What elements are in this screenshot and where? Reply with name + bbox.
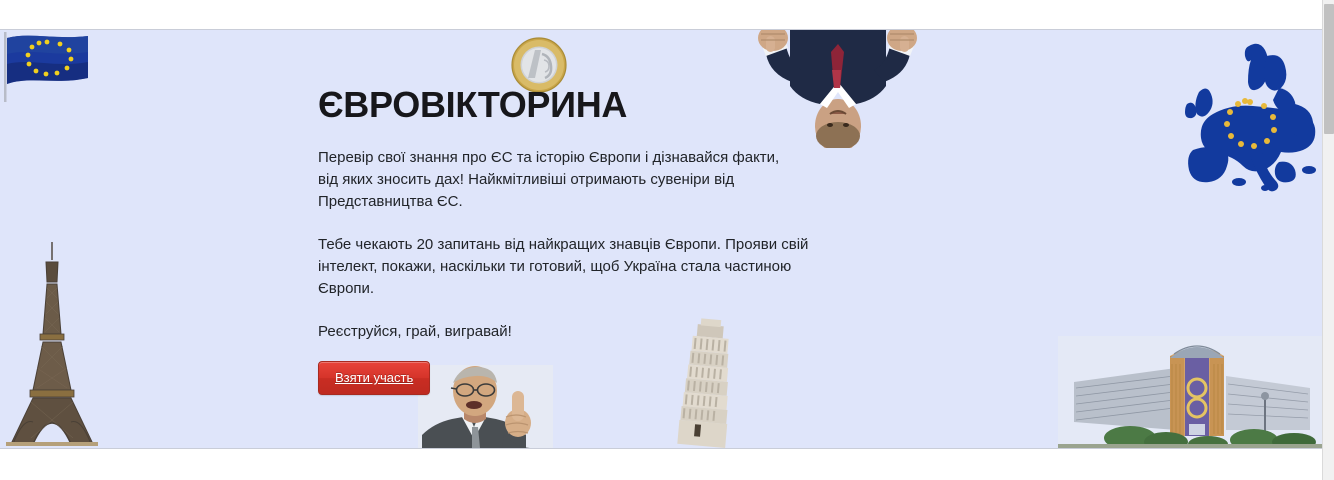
hero-banner: ЄВРОВІКТОРИНА Перевір свої знання про ЄС… xyxy=(0,30,1322,448)
page-title: ЄВРОВІКТОРИНА xyxy=(318,85,818,125)
page-bottom-whitespace xyxy=(0,449,1322,480)
eu-flag-image xyxy=(0,30,95,102)
vertical-scrollbar[interactable] xyxy=(1322,0,1334,480)
take-part-button[interactable]: Взяти участь xyxy=(318,361,430,395)
scrollbar-thumb[interactable] xyxy=(1324,4,1334,134)
hero-paragraph-3: Реєструйся, грай, вигравай! xyxy=(318,321,818,343)
hero-paragraph-2: Тебе чекають 20 запитань від найкращих з… xyxy=(318,234,810,300)
eiffel-tower-image xyxy=(0,238,105,448)
page-top-whitespace xyxy=(0,0,1322,29)
hero-paragraph-1: Перевір свої знання про ЄС та історію Єв… xyxy=(318,147,796,213)
eu-map-image xyxy=(1175,30,1322,210)
berlaymont-building-image xyxy=(1058,326,1322,448)
hero-text-column: ЄВРОВІКТОРИНА Перевір свої знання про ЄС… xyxy=(318,85,818,395)
browser-viewport: ЄВРОВІКТОРИНА Перевір свої знання про ЄС… xyxy=(0,0,1334,480)
